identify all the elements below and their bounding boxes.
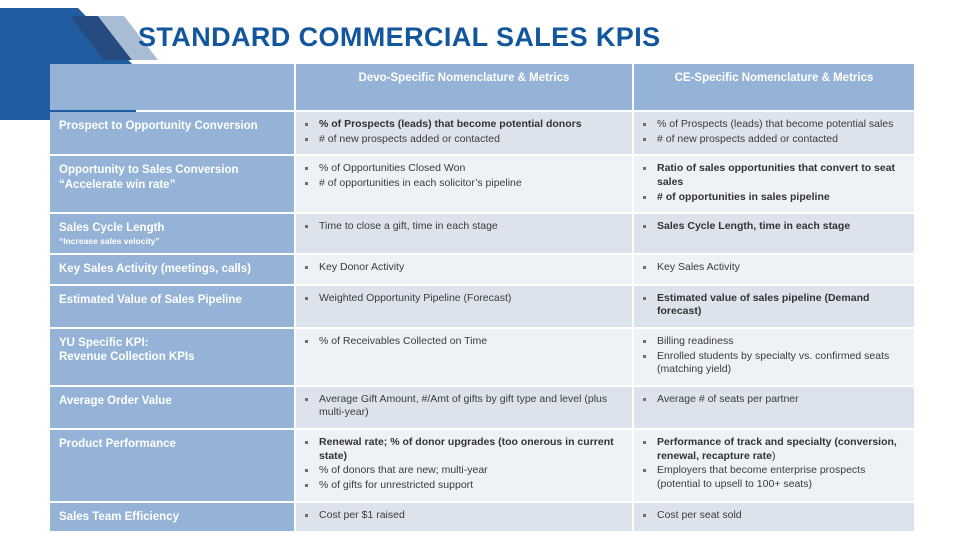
row-label-subtext: “Accelerate win rate” bbox=[59, 178, 286, 192]
devo-cell: % of Prospects (leads) that become poten… bbox=[296, 112, 632, 154]
devo-cell: Cost per $1 raised bbox=[296, 503, 632, 531]
row-label-subtext: Revenue Collection KPIs bbox=[59, 350, 286, 364]
bullet-item: Key Donor Activity bbox=[300, 261, 624, 275]
ce-bullet-list: Billing readinessEnrolled students by sp… bbox=[638, 335, 906, 377]
table-row: Average Order ValueAverage Gift Amount, … bbox=[50, 387, 914, 428]
table-row: Sales Cycle Length“Increase sales veloci… bbox=[50, 214, 914, 253]
devo-bullet-list: Time to close a gift, time in each stage bbox=[300, 220, 624, 234]
ce-bullet-list: % of Prospects (leads) that become poten… bbox=[638, 118, 906, 146]
table-row: Opportunity to Sales Conversion“Accelera… bbox=[50, 156, 914, 212]
bullet-item: Key Sales Activity bbox=[638, 261, 906, 275]
ce-bullet-list: Cost per seat sold bbox=[638, 509, 906, 523]
bullet-item: Cost per $1 raised bbox=[300, 509, 624, 523]
ce-bullet-list: Sales Cycle Length, time in each stage bbox=[638, 220, 906, 234]
ce-cell: Performance of track and specialty (conv… bbox=[634, 430, 914, 501]
bullet-item: Weighted Opportunity Pipeline (Forecast) bbox=[300, 292, 624, 306]
row-label-cell: YU Specific KPI:Revenue Collection KPIs bbox=[50, 329, 294, 385]
row-label-text: Average Order Value bbox=[59, 395, 172, 407]
devo-bullet-list: Key Donor Activity bbox=[300, 261, 624, 275]
bullet-item: % of Opportunities Closed Won bbox=[300, 162, 624, 176]
devo-bullet-list: % of Prospects (leads) that become poten… bbox=[300, 118, 624, 146]
bullet-item: # of new prospects added or contacted bbox=[300, 133, 624, 147]
header-cell-devo: Devo-Specific Nomenclature & Metrics bbox=[296, 64, 632, 110]
devo-cell: Time to close a gift, time in each stage bbox=[296, 214, 632, 253]
row-label-cell: Key Sales Activity (meetings, calls) bbox=[50, 255, 294, 283]
devo-cell: Key Donor Activity bbox=[296, 255, 632, 283]
devo-bullet-list: Weighted Opportunity Pipeline (Forecast) bbox=[300, 292, 624, 306]
header-cell-ce: CE-Specific Nomenclature & Metrics bbox=[634, 64, 914, 110]
ce-cell: Estimated value of sales pipeline (Deman… bbox=[634, 286, 914, 327]
bullet-item: % of Prospects (leads) that become poten… bbox=[638, 118, 906, 132]
row-label-text: Key Sales Activity (meetings, calls) bbox=[59, 263, 251, 275]
ce-cell: Ratio of sales opportunities that conver… bbox=[634, 156, 914, 212]
devo-bullet-list: Cost per $1 raised bbox=[300, 509, 624, 523]
ce-cell: Average # of seats per partner bbox=[634, 387, 914, 428]
row-label-text: YU Specific KPI: bbox=[59, 337, 148, 349]
row-label-subtext: “Increase sales velocity” bbox=[59, 236, 286, 247]
devo-cell: Weighted Opportunity Pipeline (Forecast) bbox=[296, 286, 632, 327]
bullet-item: Enrolled students by specialty vs. confi… bbox=[638, 350, 906, 377]
ce-bullet-list: Key Sales Activity bbox=[638, 261, 906, 275]
table-row: Prospect to Opportunity Conversion% of P… bbox=[50, 112, 914, 154]
table-row: Product PerformanceRenewal rate; % of do… bbox=[50, 430, 914, 501]
ce-cell: Cost per seat sold bbox=[634, 503, 914, 531]
table-row: Estimated Value of Sales PipelineWeighte… bbox=[50, 286, 914, 327]
row-label-cell: Sales Team Efficiency bbox=[50, 503, 294, 531]
bullet-item: # of opportunities in sales pipeline bbox=[638, 191, 906, 205]
devo-bullet-list: Average Gift Amount, #/Amt of gifts by g… bbox=[300, 393, 624, 420]
bullet-item: % of donors that are new; multi-year bbox=[300, 464, 624, 478]
bullet-item: Employers that become enterprise prospec… bbox=[638, 464, 906, 491]
bullet-item: Estimated value of sales pipeline (Deman… bbox=[638, 292, 906, 319]
ce-bullet-list: Ratio of sales opportunities that conver… bbox=[638, 162, 906, 204]
kpi-table: Devo-Specific Nomenclature & Metrics CE-… bbox=[48, 62, 916, 533]
table-row: Key Sales Activity (meetings, calls)Key … bbox=[50, 255, 914, 283]
devo-bullet-list: % of Receivables Collected on Time bbox=[300, 335, 624, 349]
bullet-item: Average Gift Amount, #/Amt of gifts by g… bbox=[300, 393, 624, 420]
bullet-item: % of gifts for unrestricted support bbox=[300, 479, 624, 493]
row-label-text: Prospect to Opportunity Conversion bbox=[59, 120, 258, 132]
ce-cell: Key Sales Activity bbox=[634, 255, 914, 283]
row-label-text: Estimated Value of Sales Pipeline bbox=[59, 294, 242, 306]
bullet-item: Cost per seat sold bbox=[638, 509, 906, 523]
row-label-cell: Prospect to Opportunity Conversion bbox=[50, 112, 294, 154]
row-label-text: Product Performance bbox=[59, 438, 176, 450]
bullet-item: % of Prospects (leads) that become poten… bbox=[300, 118, 624, 132]
ce-cell: Sales Cycle Length, time in each stage bbox=[634, 214, 914, 253]
header-cell-blank bbox=[50, 64, 294, 110]
devo-bullet-list: Renewal rate; % of donor upgrades (too o… bbox=[300, 436, 624, 493]
bullet-item: Performance of track and specialty (conv… bbox=[638, 436, 906, 463]
ce-cell: % of Prospects (leads) that become poten… bbox=[634, 112, 914, 154]
row-label-cell: Average Order Value bbox=[50, 387, 294, 428]
bullet-item: Billing readiness bbox=[638, 335, 906, 349]
table-row: Sales Team EfficiencyCost per $1 raisedC… bbox=[50, 503, 914, 531]
bullet-item: Sales Cycle Length, time in each stage bbox=[638, 220, 906, 234]
table-row: YU Specific KPI:Revenue Collection KPIs%… bbox=[50, 329, 914, 385]
page-title: STANDARD COMMERCIAL SALES KPIS bbox=[138, 22, 661, 53]
ce-cell: Billing readinessEnrolled students by sp… bbox=[634, 329, 914, 385]
row-label-text: Sales Team Efficiency bbox=[59, 511, 179, 523]
table-body: Prospect to Opportunity Conversion% of P… bbox=[50, 112, 914, 531]
row-label-cell: Product Performance bbox=[50, 430, 294, 501]
devo-bullet-list: % of Opportunities Closed Won# of opport… bbox=[300, 162, 624, 190]
bullet-item: Average # of seats per partner bbox=[638, 393, 906, 407]
slide-canvas: STANDARD COMMERCIAL SALES KPIS Devo-Spec… bbox=[0, 0, 960, 540]
bullet-item: % of Receivables Collected on Time bbox=[300, 335, 624, 349]
devo-cell: Renewal rate; % of donor upgrades (too o… bbox=[296, 430, 632, 501]
row-label-text: Sales Cycle Length bbox=[59, 222, 164, 234]
bullet-item: # of new prospects added or contacted bbox=[638, 133, 906, 147]
bullet-item: Ratio of sales opportunities that conver… bbox=[638, 162, 906, 189]
ce-bullet-list: Estimated value of sales pipeline (Deman… bbox=[638, 292, 906, 319]
ce-bullet-list: Performance of track and specialty (conv… bbox=[638, 436, 906, 492]
ce-bullet-list: Average # of seats per partner bbox=[638, 393, 906, 407]
row-label-cell: Opportunity to Sales Conversion“Accelera… bbox=[50, 156, 294, 212]
bullet-item-trailing: ) bbox=[772, 450, 776, 462]
row-label-cell: Estimated Value of Sales Pipeline bbox=[50, 286, 294, 327]
devo-cell: % of Opportunities Closed Won# of opport… bbox=[296, 156, 632, 212]
devo-cell: % of Receivables Collected on Time bbox=[296, 329, 632, 385]
bullet-item: # of opportunities in each solicitor’s p… bbox=[300, 177, 624, 191]
devo-cell: Average Gift Amount, #/Amt of gifts by g… bbox=[296, 387, 632, 428]
table-header-row: Devo-Specific Nomenclature & Metrics CE-… bbox=[50, 64, 914, 110]
bullet-item: Renewal rate; % of donor upgrades (too o… bbox=[300, 436, 624, 463]
row-label-cell: Sales Cycle Length“Increase sales veloci… bbox=[50, 214, 294, 253]
row-label-text: Opportunity to Sales Conversion bbox=[59, 164, 239, 176]
bullet-item: Time to close a gift, time in each stage bbox=[300, 220, 624, 234]
